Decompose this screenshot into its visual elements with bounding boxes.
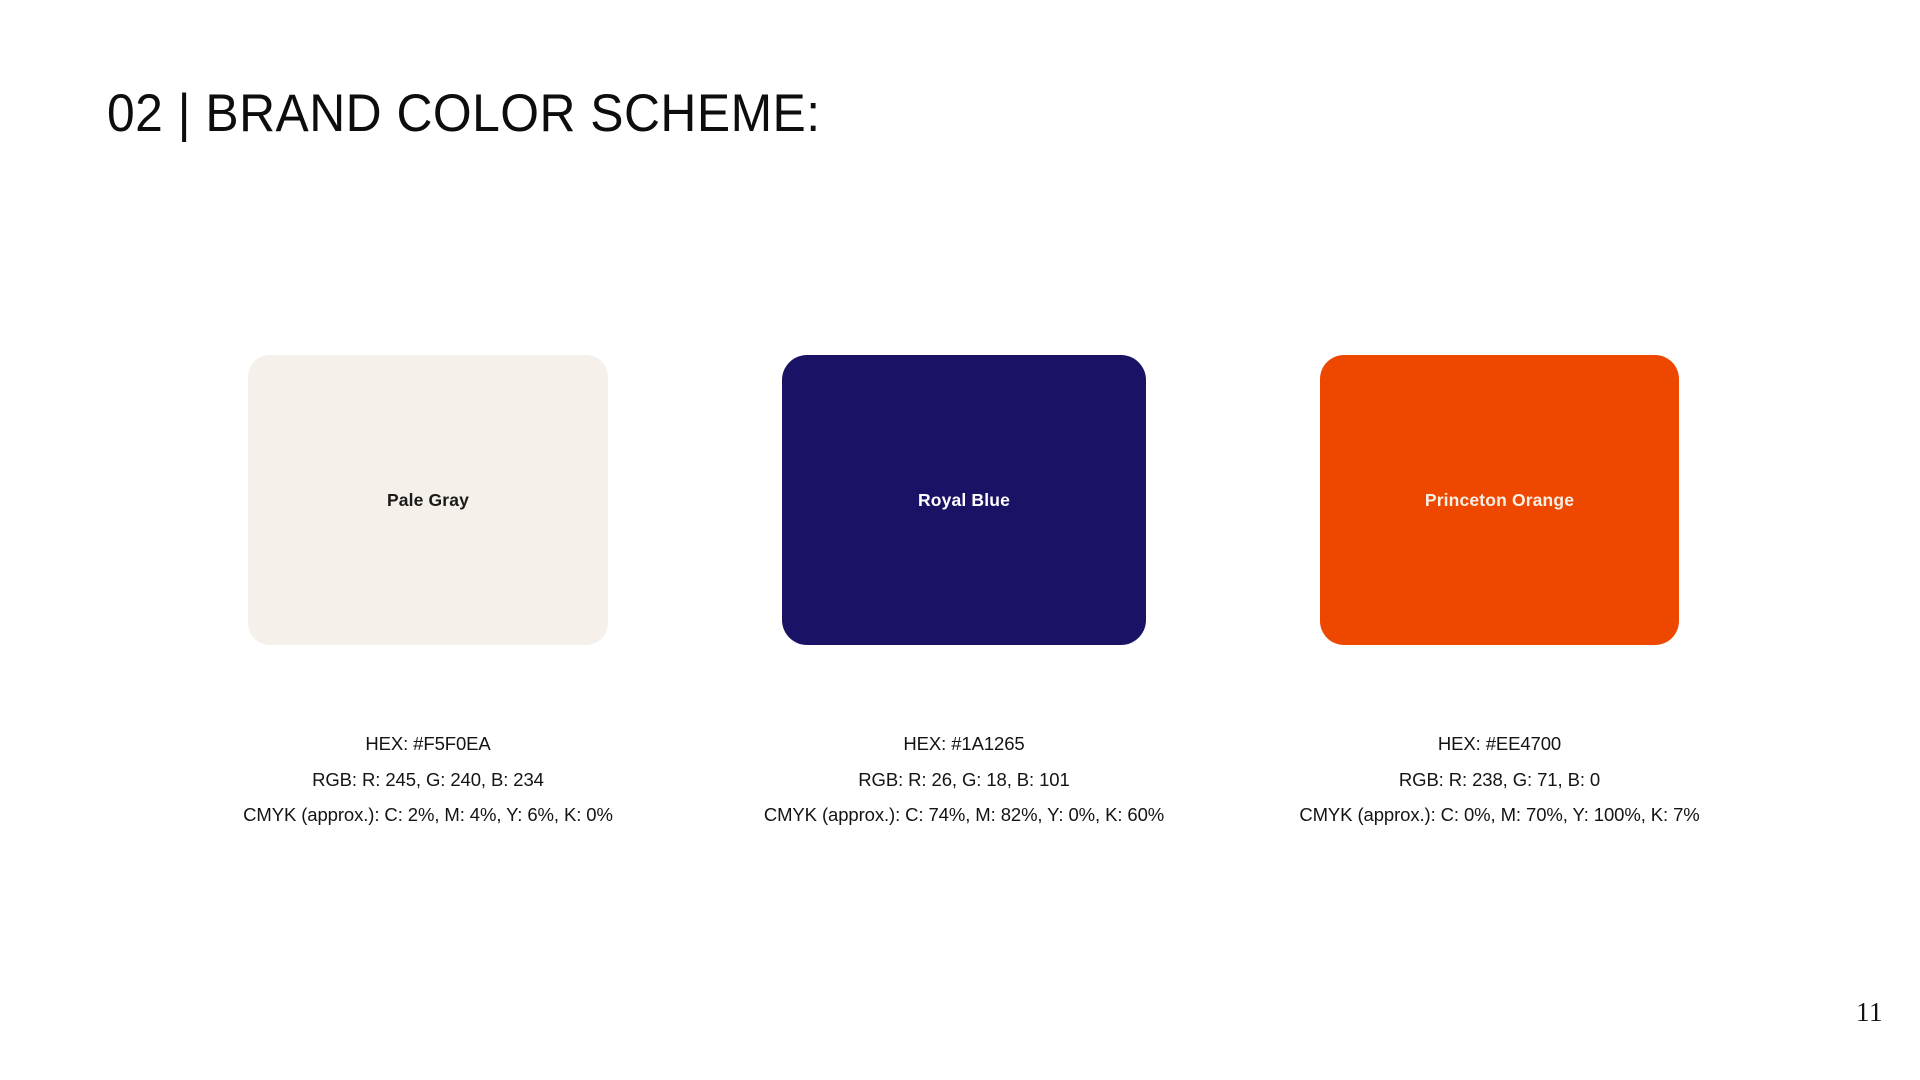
color-swatch-chip[interactable]: Royal Blue <box>782 355 1146 645</box>
rgb-value-line: RGB: R: 245, G: 240, B: 234 <box>148 771 708 790</box>
cmyk-value-line: CMYK (approx.): C: 2%, M: 4%, Y: 6%, K: … <box>148 806 708 825</box>
color-swatch-name: Princeton Orange <box>1425 490 1574 511</box>
color-swatch-name: Royal Blue <box>918 490 1010 511</box>
hex-value-line: HEX: #F5F0EA <box>148 735 708 754</box>
color-swatch-chip[interactable]: Princeton Orange <box>1320 355 1679 645</box>
color-swatch-name: Pale Gray <box>387 490 469 511</box>
hex-value-line: HEX: #1A1265 <box>684 735 1244 754</box>
color-swatch-card-royal-blue: Royal Blue HEX: #1A1265 RGB: R: 26, G: 1… <box>782 355 1146 645</box>
cmyk-value-line: CMYK (approx.): C: 74%, M: 82%, Y: 0%, K… <box>684 806 1244 825</box>
hex-value-line: HEX: #EE4700 <box>1220 735 1780 754</box>
page-title: 02 | BRAND COLOR SCHEME: <box>107 84 821 143</box>
brand-color-swatch-grid: Pale Gray HEX: #F5F0EA RGB: R: 245, G: 2… <box>0 355 1920 775</box>
rgb-value-line: RGB: R: 26, G: 18, B: 101 <box>684 771 1244 790</box>
color-swatch-meta: HEX: #1A1265 RGB: R: 26, G: 18, B: 101 C… <box>684 735 1244 825</box>
color-swatch-card-princeton-orange: Princeton Orange HEX: #EE4700 RGB: R: 23… <box>1320 355 1679 645</box>
page-number: 11 <box>1856 997 1883 1028</box>
color-swatch-meta: HEX: #EE4700 RGB: R: 238, G: 71, B: 0 CM… <box>1220 735 1780 825</box>
color-swatch-card-pale-gray: Pale Gray HEX: #F5F0EA RGB: R: 245, G: 2… <box>248 355 608 645</box>
color-swatch-chip[interactable]: Pale Gray <box>248 355 608 645</box>
cmyk-value-line: CMYK (approx.): C: 0%, M: 70%, Y: 100%, … <box>1220 806 1780 825</box>
rgb-value-line: RGB: R: 238, G: 71, B: 0 <box>1220 771 1780 790</box>
color-swatch-meta: HEX: #F5F0EA RGB: R: 245, G: 240, B: 234… <box>148 735 708 825</box>
